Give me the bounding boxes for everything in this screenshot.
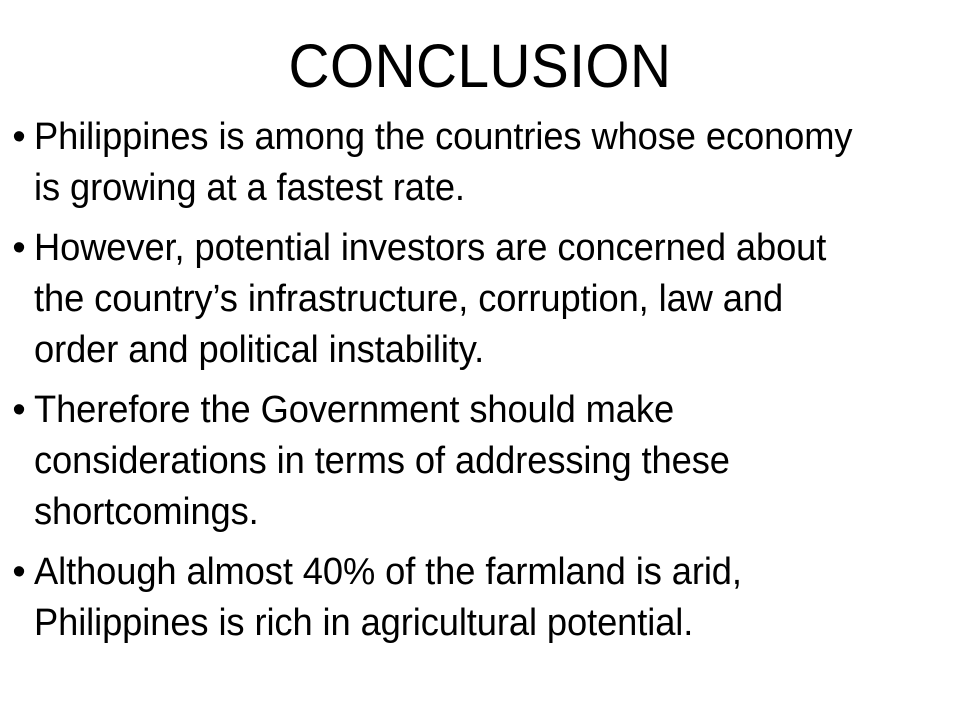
list-item-text: Therefore the Government should make con… [34,385,918,538]
page-title: CONCLUSION [34,36,927,97]
bullet-list: • Philippines is among the countries who… [0,112,960,658]
list-item: • Philippines is among the countries who… [0,112,960,214]
bullet-point-icon: • [0,385,34,436]
list-item-text: However, potential investors are concern… [34,223,918,376]
list-item-text: Although almost 40% of the farmland is a… [34,547,918,649]
bullet-point-icon: • [0,112,34,163]
list-item-text: Philippines is among the countries whose… [34,112,918,214]
presentation-slide: CONCLUSION • Philippines is among the co… [0,0,960,720]
list-item: • Although almost 40% of the farmland is… [0,547,960,649]
list-item: • However, potential investors are conce… [0,223,960,376]
bullet-point-icon: • [0,547,34,598]
list-item: • Therefore the Government should make c… [0,385,960,538]
bullet-point-icon: • [0,223,34,274]
